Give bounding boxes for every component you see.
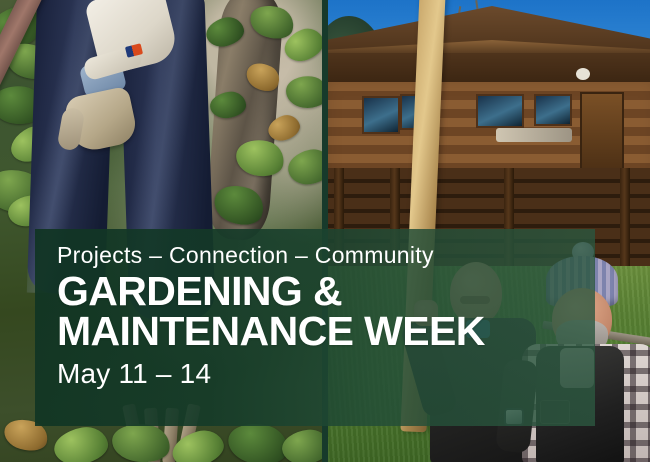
deck-shelf-items — [496, 128, 572, 142]
lodge-door — [580, 92, 624, 172]
porch-light — [576, 68, 590, 80]
text-overlay-panel: Projects – Connection – Community GARDEN… — [35, 229, 595, 426]
gardening-maintenance-week-banner: Projects – Connection – Community GARDEN… — [0, 0, 650, 462]
headline-line-2: MAINTENANCE WEEK — [57, 312, 595, 351]
eyebrow-tagline: Projects – Connection – Community — [57, 243, 595, 268]
event-dates: May 11 – 14 — [57, 359, 595, 390]
lodge-window — [476, 94, 524, 128]
page-title: GARDENING & MAINTENANCE WEEK — [57, 272, 595, 351]
lodge-window — [534, 94, 572, 126]
lodge-window — [362, 96, 400, 134]
